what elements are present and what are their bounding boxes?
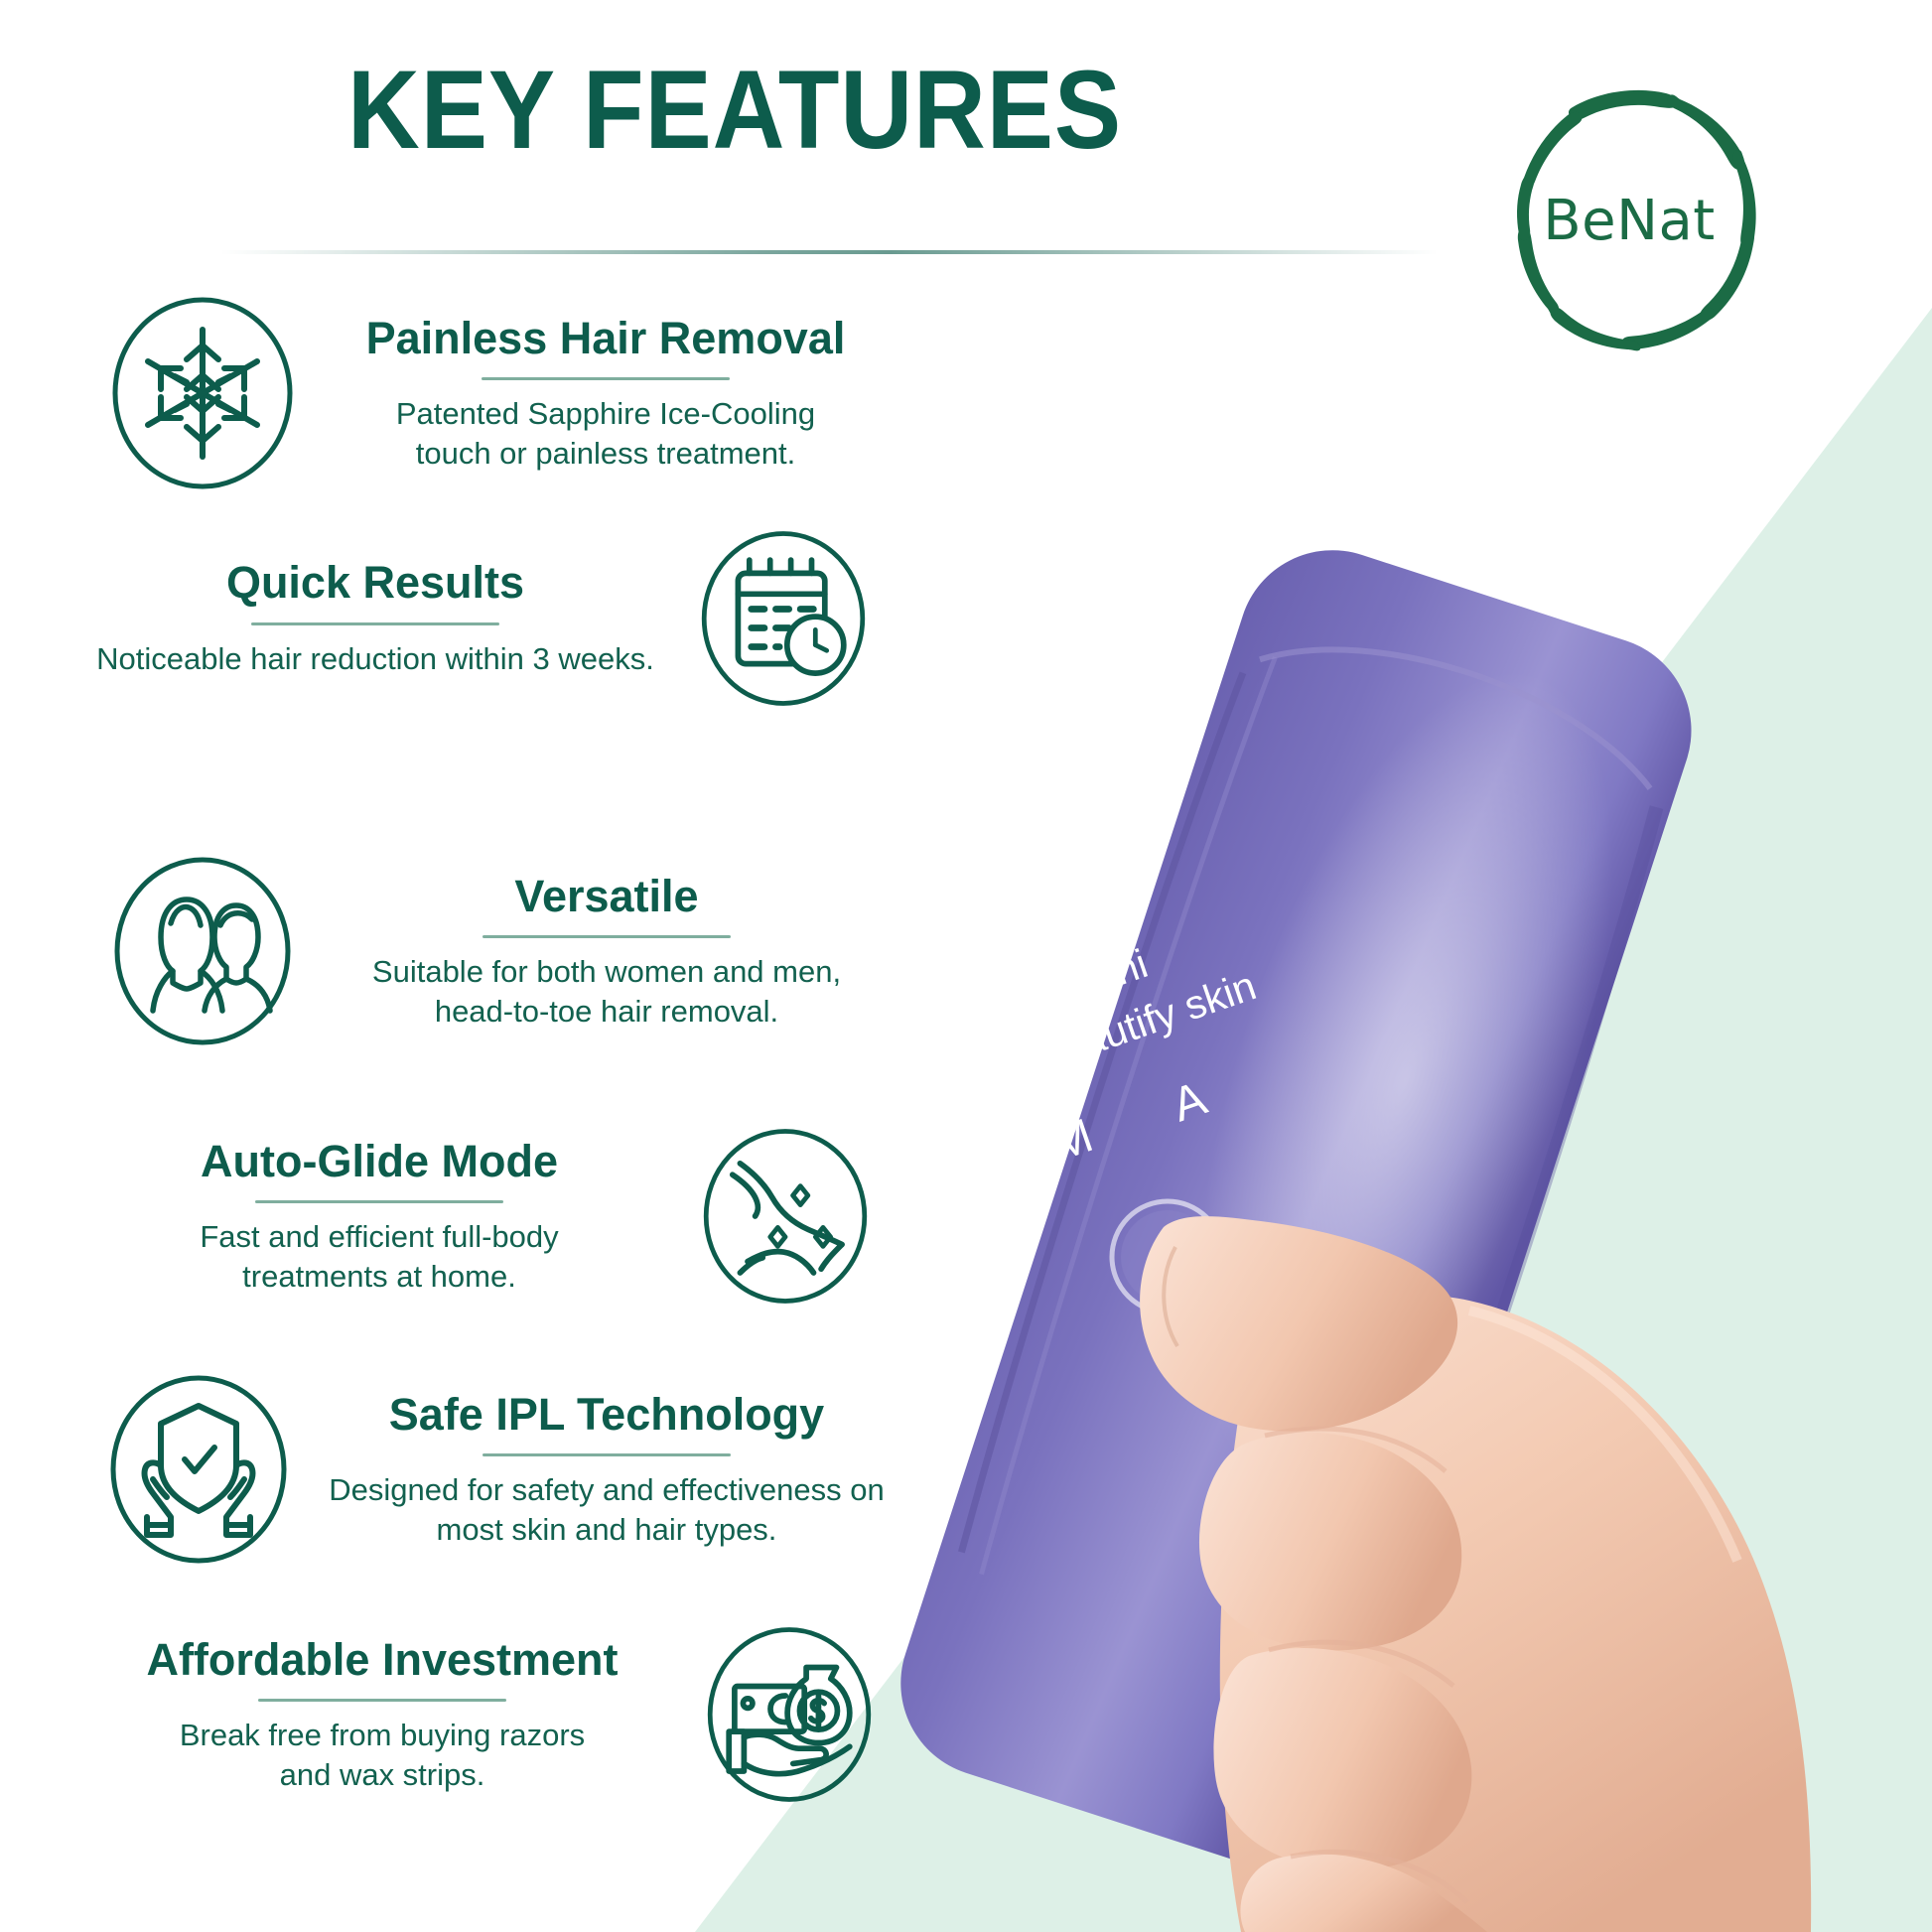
feature-title: Safe IPL Technology <box>389 1390 824 1440</box>
feature-item-auto-glide-mode: Auto-Glide Mode Fast and efficient full-… <box>85 1122 880 1311</box>
device-label-face: Face <box>1013 811 1113 884</box>
feature-item-versatile: Versatile Suitable for both women and me… <box>103 852 888 1050</box>
feature-divider <box>483 1453 731 1456</box>
hand-holding-device <box>1140 1216 1811 1932</box>
feature-item-quick-results: Quick Results Noticeable hair reduction … <box>83 524 878 713</box>
feature-title: Painless Hair Removal <box>366 314 846 363</box>
feature-text-block: Quick Results Noticeable hair reduction … <box>83 558 667 678</box>
feature-item-affordable-investment: Affordable Investment Break free from bu… <box>79 1620 884 1809</box>
feature-text-block: Safe IPL Technology Designed for safety … <box>320 1390 894 1550</box>
feature-divider <box>483 935 731 938</box>
feature-title: Quick Results <box>226 558 524 608</box>
feature-description: Break free from buying razors and wax st… <box>180 1716 585 1794</box>
device-label-body: Body <box>1029 876 1132 949</box>
feature-text-block: Versatile Suitable for both women and me… <box>326 872 888 1032</box>
device-label-armpit: Armpit <box>997 739 1124 820</box>
features-list: Painless Hair Removal Patented Sapphire … <box>0 0 1013 1932</box>
feature-description: Suitable for both women and men, head-to… <box>372 952 841 1031</box>
feature-divider <box>482 377 730 380</box>
feature-divider <box>251 622 499 625</box>
feature-text-block: Affordable Investment Break free from bu… <box>79 1635 685 1795</box>
feature-divider <box>258 1699 506 1702</box>
feature-title: Affordable Investment <box>146 1635 618 1685</box>
feature-text-block: Auto-Glide Mode Fast and efficient full-… <box>85 1137 673 1297</box>
feature-description: Designed for safety and effectiveness on… <box>329 1470 885 1549</box>
brand-logo: BeNat <box>1485 77 1773 360</box>
feature-text-block: Painless Hair Removal Patented Sapphire … <box>324 314 888 474</box>
feature-description: Fast and efficient full-body treatments … <box>200 1217 558 1296</box>
brand-name: BeNat <box>1485 189 1773 253</box>
calendar-clock-icon <box>689 524 878 713</box>
feature-divider <box>255 1200 503 1203</box>
feature-item-painless-hair-removal: Painless Hair Removal Patented Sapphire … <box>103 294 888 492</box>
woman-man-icon <box>103 852 302 1050</box>
feature-item-safe-ipl-technology: Safe IPL Technology Designed for safety … <box>99 1370 894 1569</box>
feature-description: Noticeable hair reduction within 3 weeks… <box>96 639 654 679</box>
money-bag-hand-icon <box>695 1620 884 1809</box>
feature-title: Versatile <box>514 872 698 921</box>
shield-in-hands-icon <box>99 1370 298 1569</box>
feature-title: Auto-Glide Mode <box>201 1137 558 1186</box>
legs-glide-icon <box>691 1122 880 1311</box>
snowflake-icon <box>103 294 302 492</box>
feature-description: Patented Sapphire Ice-Cooling touch or p… <box>396 394 815 473</box>
